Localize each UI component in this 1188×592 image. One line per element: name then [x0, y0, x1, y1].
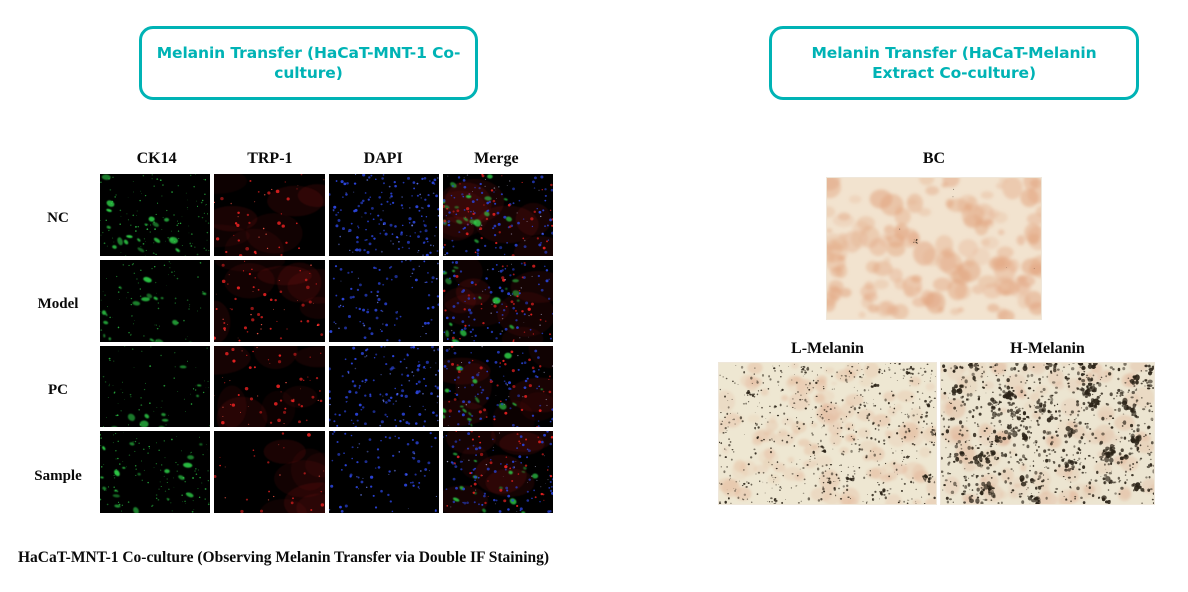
micrograph-model-ck14 — [100, 260, 210, 342]
brightfield-panel: BC L-Melanin H-Melanin — [690, 150, 1180, 530]
micrograph-grid — [100, 174, 553, 513]
column-header-merge: Merge — [440, 150, 553, 172]
row-label-sample: Sample — [20, 468, 96, 485]
micrograph-sample-dapi — [329, 431, 439, 513]
micrograph-model-trp1 — [214, 260, 324, 342]
brightfield-image-bc — [826, 177, 1042, 320]
brightfield-image-h-melanin — [940, 362, 1155, 505]
column-header-trp1: TRP-1 — [213, 150, 326, 172]
micrograph-pc-merge — [443, 346, 553, 428]
column-header-dapi: DAPI — [327, 150, 440, 172]
micrograph-sample-trp1 — [214, 431, 324, 513]
column-header-row: CK14 TRP-1 DAPI Merge — [100, 150, 553, 172]
column-header-ck14: CK14 — [100, 150, 213, 172]
panel-title-hacat-mnt1: Melanin Transfer (HaCaT-MNT-1 Co-culture… — [139, 26, 478, 100]
panel-title-hacat-melanin-extract: Melanin Transfer (HaCaT-Melanin Extract … — [769, 26, 1139, 100]
micrograph-nc-dapi — [329, 174, 439, 256]
row-label-nc: NC — [20, 210, 96, 227]
row-label-model: Model — [20, 296, 96, 313]
micrograph-nc-trp1 — [214, 174, 324, 256]
figure-caption: HaCaT-MNT-1 Co-culture (Observing Melani… — [18, 549, 549, 567]
image-label-l-melanin: L-Melanin — [718, 340, 937, 358]
image-label-bc: BC — [826, 150, 1042, 168]
micrograph-pc-trp1 — [214, 346, 324, 428]
image-label-h-melanin: H-Melanin — [940, 340, 1155, 358]
micrograph-model-dapi — [329, 260, 439, 342]
immunofluorescence-panel: CK14 TRP-1 DAPI Merge NC Model PC Sample — [0, 150, 600, 530]
micrograph-nc-ck14 — [100, 174, 210, 256]
micrograph-sample-ck14 — [100, 431, 210, 513]
figure-root: Melanin Transfer (HaCaT-MNT-1 Co-culture… — [0, 0, 1188, 592]
micrograph-sample-merge — [443, 431, 553, 513]
micrograph-pc-ck14 — [100, 346, 210, 428]
brightfield-image-l-melanin — [718, 362, 937, 505]
micrograph-model-merge — [443, 260, 553, 342]
row-label-pc: PC — [20, 382, 96, 399]
micrograph-pc-dapi — [329, 346, 439, 428]
micrograph-nc-merge — [443, 174, 553, 256]
